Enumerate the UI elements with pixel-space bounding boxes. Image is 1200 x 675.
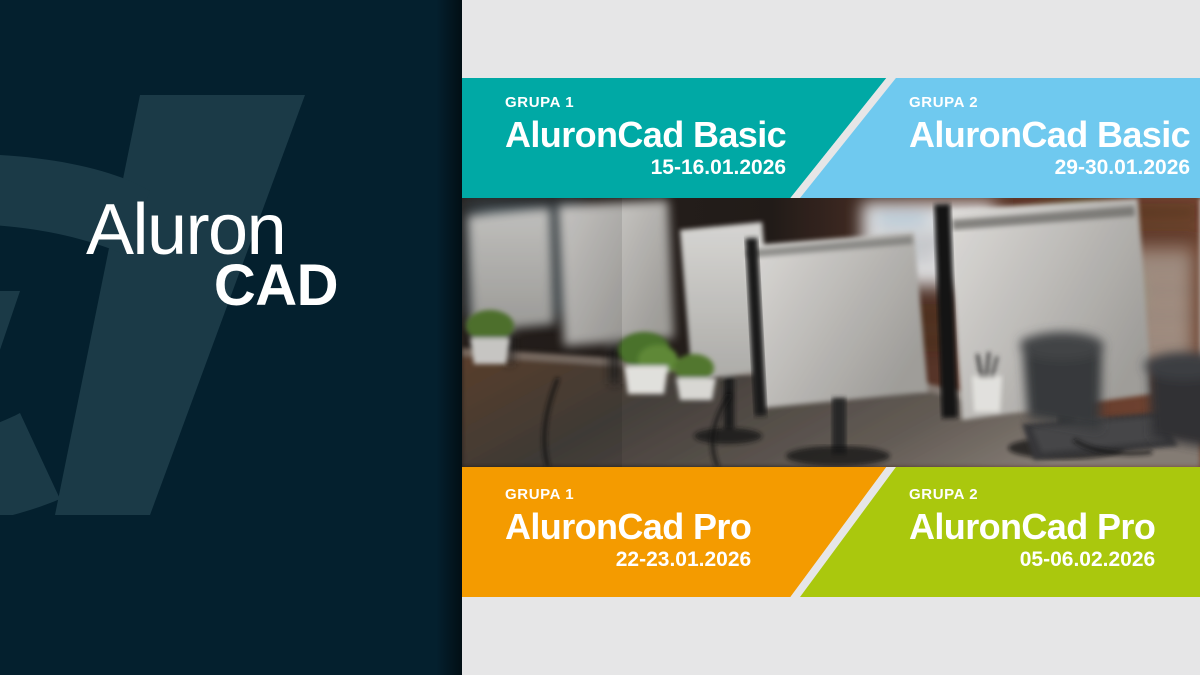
group-label: GRUPA 1 [505, 487, 751, 502]
course-name: AluronCad Pro [909, 509, 1155, 545]
course-panel-content: GRUPA 1 AluronCad Basic 15-16.01.2026 [505, 95, 786, 178]
course-panel-content: GRUPA 2 AluronCad Basic 29-30.01.2026 [909, 95, 1190, 178]
course-date: 29-30.01.2026 [909, 157, 1190, 178]
aluroncad-logo: Aluron CAD [86, 196, 338, 312]
brand-panel: Aluron CAD [0, 0, 462, 675]
group-label: GRUPA 2 [909, 487, 1155, 502]
group-label: GRUPA 2 [909, 95, 1190, 110]
office-workstations-photo [462, 198, 1200, 467]
brand-panel-edge-shadow [436, 0, 462, 675]
course-row-top: GRUPA 1 AluronCad Basic 15-16.01.2026 GR… [462, 78, 1200, 198]
course-date: 15-16.01.2026 [505, 157, 786, 178]
course-name: AluronCad Basic [909, 117, 1190, 153]
group-label: GRUPA 1 [505, 95, 786, 110]
course-date: 05-06.02.2026 [909, 549, 1155, 570]
course-panel-content: GRUPA 1 AluronCad Pro 22-23.01.2026 [505, 487, 751, 570]
course-date: 22-23.01.2026 [505, 549, 751, 570]
course-name: AluronCad Pro [505, 509, 751, 545]
slide-canvas: Aluron CAD [0, 0, 1200, 675]
course-name: AluronCad Basic [505, 117, 786, 153]
course-row-bottom: GRUPA 1 AluronCad Pro 22-23.01.2026 GRUP… [462, 467, 1200, 597]
course-panel-content: GRUPA 2 AluronCad Pro 05-06.02.2026 [909, 487, 1155, 570]
